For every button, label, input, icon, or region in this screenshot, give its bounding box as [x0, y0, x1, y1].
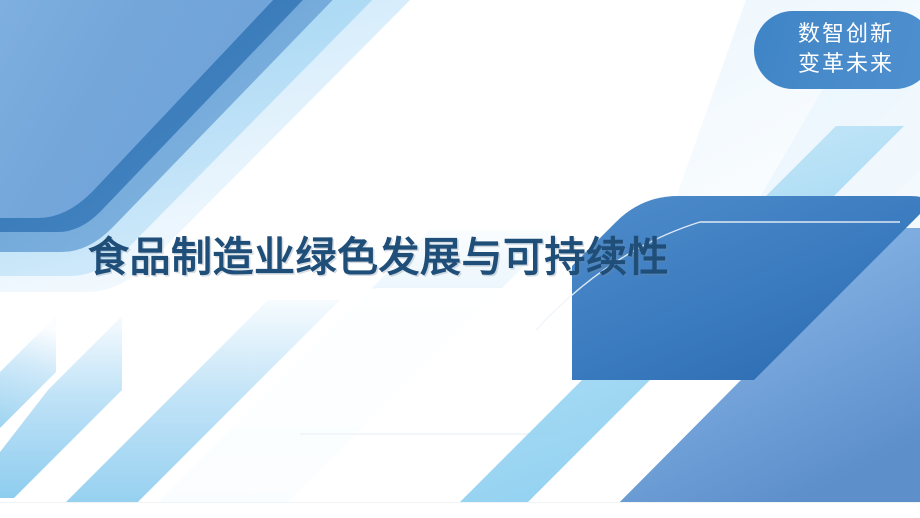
bottom-hairline — [0, 502, 920, 503]
top-left-stripe-dark — [0, 0, 322, 232]
corner-badge-line-1: 数智创新 — [798, 20, 894, 50]
bottom-white-strip — [0, 503, 920, 518]
slide-canvas: 数智创新 变革未来 食品制造业绿色发展与可持续性 — [0, 0, 920, 518]
page-title: 食品制造业绿色发展与可持续性 — [88, 230, 669, 284]
corner-badge: 数智创新 变革未来 — [754, 11, 920, 89]
bottom-left-stripe-c — [58, 300, 340, 510]
bottom-right-light-wedge-visible — [452, 126, 904, 510]
bottom-right-lozenge-group — [572, 196, 920, 380]
top-left-panel — [0, 0, 292, 218]
bottom-left-stripe-b — [0, 316, 56, 428]
bottom-left-stripe-a — [0, 316, 122, 498]
title-block: 食品制造业绿色发展与可持续性 — [88, 230, 669, 284]
corner-badge-line-2: 变革未来 — [798, 50, 894, 80]
top-left-stripe-mid — [0, 0, 352, 252]
bottom-left-white-cut — [130, 288, 520, 510]
bottom-left-stripes — [0, 300, 340, 510]
